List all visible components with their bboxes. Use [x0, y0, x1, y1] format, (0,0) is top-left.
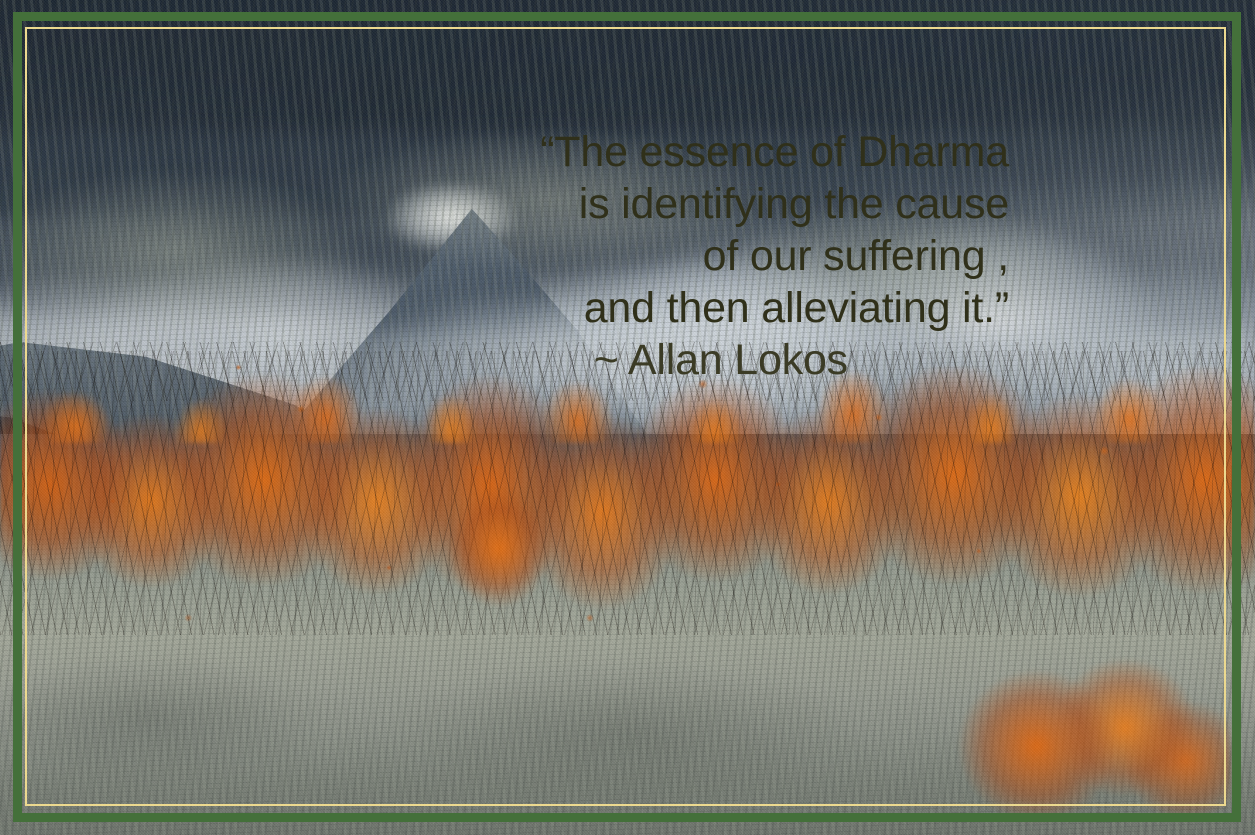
quote-image-canvas: “The essence of Dharma is identifying th… [0, 0, 1255, 835]
branch-texture [0, 351, 1255, 635]
foreground-bush-right [954, 643, 1230, 827]
midground-bush [427, 484, 578, 618]
background-photograph [0, 0, 1255, 835]
